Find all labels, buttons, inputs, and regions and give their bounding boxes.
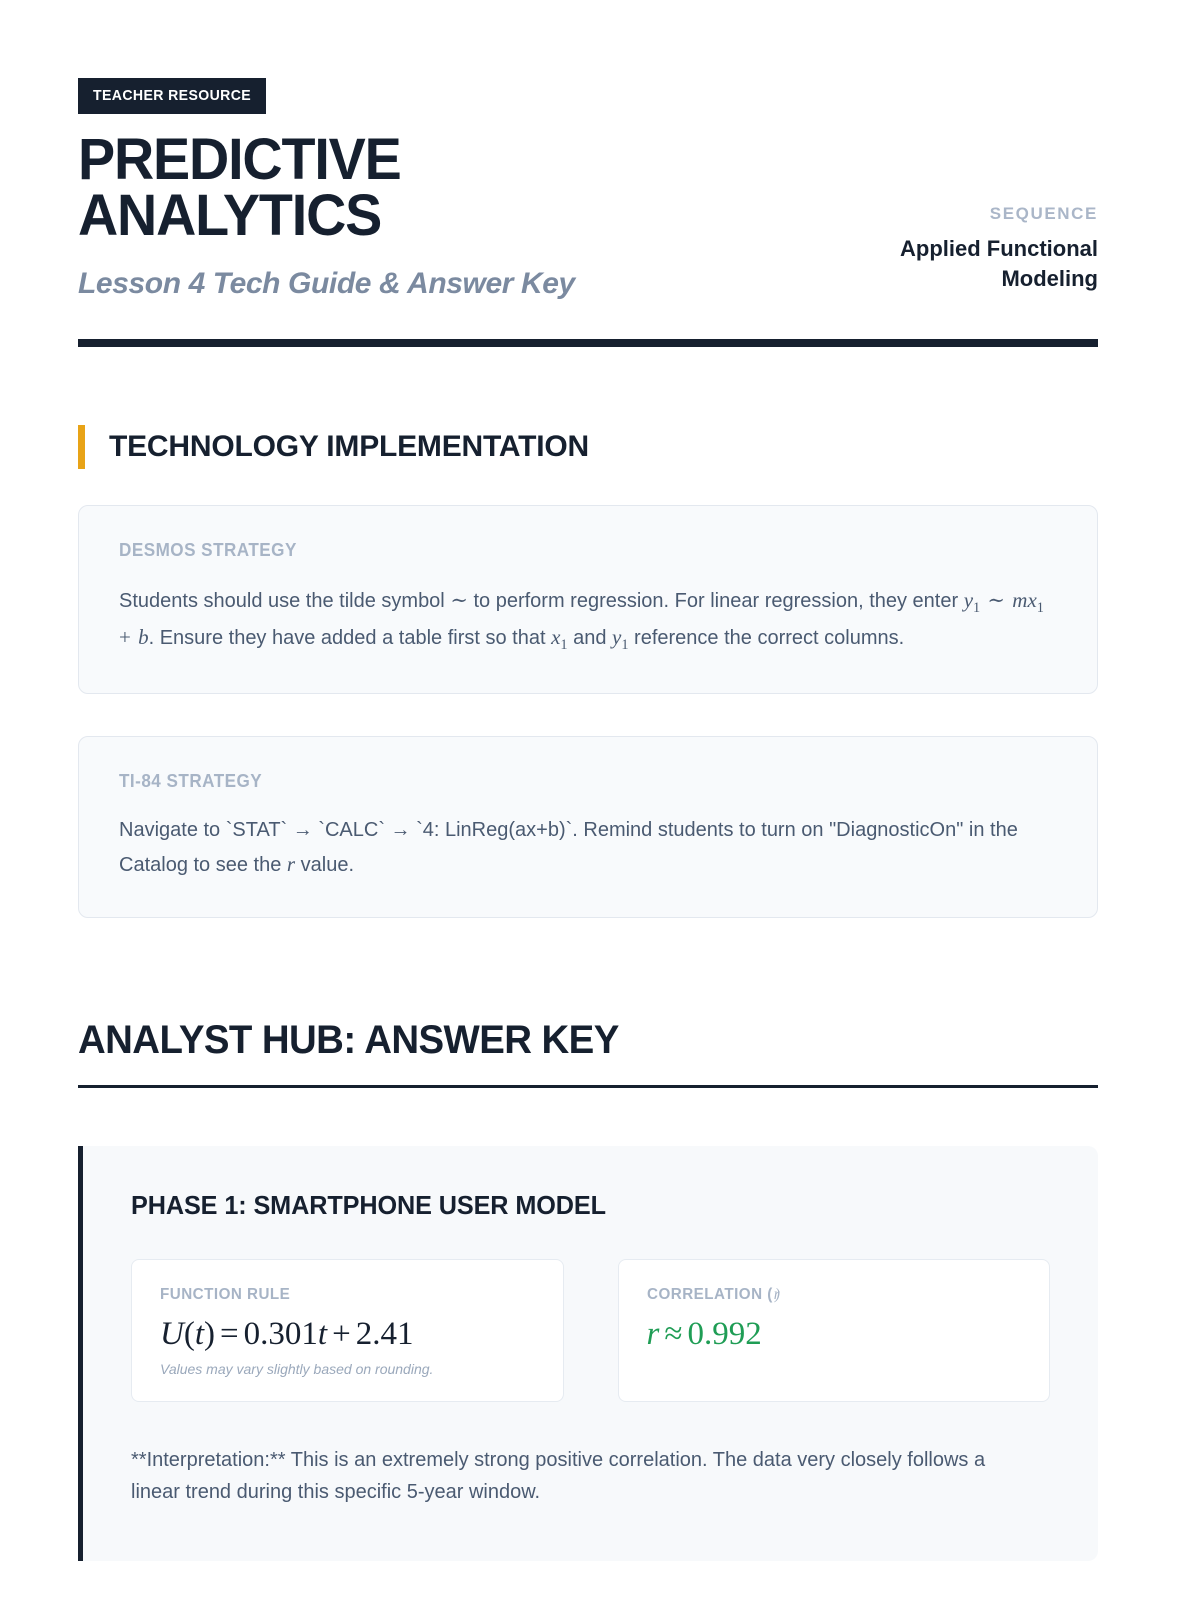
card-text-segment: to perform regression. For linear regres… xyxy=(468,590,964,612)
header-divider xyxy=(78,339,1098,347)
correlation-label-text: CORRELATION ( xyxy=(647,1286,773,1303)
function-rule-label: FUNCTION RULE xyxy=(160,1286,516,1304)
math-y-one: y1 xyxy=(612,625,628,649)
teacher-resource-badge: TEACHER RESOURCE xyxy=(78,78,266,114)
card-text-segment: reference the correct columns. xyxy=(629,627,905,649)
sequence-value: Applied Functional Modeling xyxy=(858,234,1098,293)
header-left: TEACHER RESOURCE PREDICTIVE ANALYTICS Le… xyxy=(78,78,575,301)
correlation-label-math: r) xyxy=(773,1286,774,1303)
answer-key-divider xyxy=(78,1085,1098,1088)
phase-1-card: PHASE 1: SMARTPHONE USER MODEL FUNCTION … xyxy=(78,1146,1098,1561)
document-header: TEACHER RESOURCE PREDICTIVE ANALYTICS Le… xyxy=(78,78,1098,301)
correlation-value: r≈0.992 xyxy=(647,1316,1022,1353)
section-title: TECHNOLOGY IMPLEMENTATION xyxy=(109,430,589,464)
ti84-strategy-card: TI-84 STRATEGY Navigate to `STAT` → `CAL… xyxy=(78,736,1098,918)
sequence-label: SEQUENCE xyxy=(848,204,1098,224)
desmos-strategy-card: DESMOS STRATEGY Students should use the … xyxy=(78,505,1098,695)
page-title-line-1: PREDICTIVE xyxy=(78,127,401,192)
page-title-line-2: ANALYTICS xyxy=(78,183,381,248)
function-rule-box: FUNCTION RULE U(t)=0.301t+2.41 Values ma… xyxy=(131,1259,564,1402)
page-subtitle: Lesson 4 Tech Guide & Answer Key xyxy=(78,267,575,301)
math-r-symbol: r xyxy=(287,852,295,876)
card-body: Navigate to `STAT` → `CALC` → `4: LinReg… xyxy=(119,814,1057,881)
document-page: TEACHER RESOURCE PREDICTIVE ANALYTICS Le… xyxy=(0,0,1200,1561)
header-right: SEQUENCE Applied Functional Modeling xyxy=(848,78,1098,293)
section-accent-bar xyxy=(78,425,85,469)
section-header-technology: TECHNOLOGY IMPLEMENTATION xyxy=(78,425,1098,469)
card-kicker: TI-84 STRATEGY xyxy=(119,771,1010,792)
card-text-segment: Navigate to `STAT` → `CALC` → `4: LinReg… xyxy=(119,819,1018,875)
page-title: PREDICTIVE ANALYTICS xyxy=(78,132,555,245)
math-x-one: x1 xyxy=(551,625,567,649)
card-text-segment: Students should use the tilde symbol xyxy=(119,590,450,612)
phase-title: PHASE 1: SMARTPHONE USER MODEL xyxy=(131,1190,1022,1221)
answer-key-heading: ANALYST HUB: ANSWER KEY xyxy=(78,1018,1057,1063)
function-rule-value: U(t)=0.301t+2.41 xyxy=(160,1316,535,1353)
answer-boxes: FUNCTION RULE U(t)=0.301t+2.41 Values ma… xyxy=(131,1259,1050,1402)
correlation-label: CORRELATION (r) xyxy=(647,1286,1003,1304)
interpretation-text: **Interpretation:** This is an extremely… xyxy=(131,1444,1031,1509)
card-text-segment: . Ensure they have added a table first s… xyxy=(149,627,551,649)
card-text-segment: and xyxy=(568,627,612,649)
card-kicker: DESMOS STRATEGY xyxy=(119,540,1010,561)
correlation-box: CORRELATION (r) r≈0.992 xyxy=(618,1259,1051,1402)
math-tilde: ∼ xyxy=(450,588,468,612)
card-body: Students should use the tilde symbol ∼ t… xyxy=(119,583,1057,658)
card-text-segment: value. xyxy=(295,854,354,876)
function-rule-note: Values may vary slightly based on roundi… xyxy=(160,1361,535,1377)
